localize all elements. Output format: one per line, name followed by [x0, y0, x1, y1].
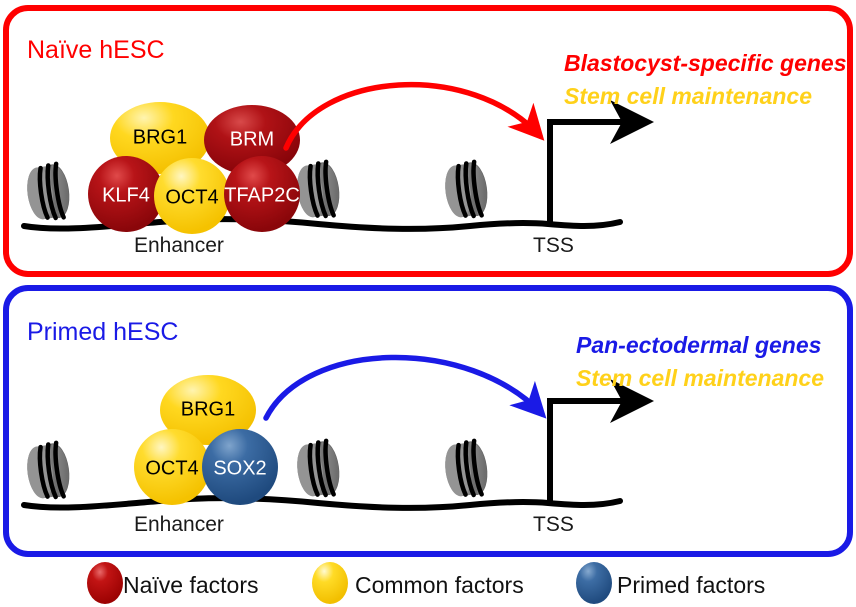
legend-label-naive-factors: Naïve factors [123, 572, 259, 599]
primed-tss-caption: TSS [533, 513, 574, 537]
primed-gene-label-stemcell: Stem cell maintenance [576, 365, 824, 392]
factor-oct4 [154, 158, 230, 234]
figure-diagram: Naïve hESC Primed hESC Blastocyst-specif… [0, 0, 856, 607]
factor-oct4-primed [134, 429, 210, 505]
legend-swatch-primed [576, 562, 612, 604]
legend-swatch-naive [87, 562, 123, 604]
naive-enhancer-caption: Enhancer [134, 234, 224, 258]
legend-label-primed-factors: Primed factors [617, 572, 765, 599]
panel-title-primed: Primed hESC [27, 318, 178, 347]
panel-title-naive: Naïve hESC [27, 36, 165, 65]
primed-gene-label-panectodermal: Pan-ectodermal genes [576, 332, 821, 359]
naive-gene-label-blastocyst: Blastocyst-specific genes [564, 50, 847, 77]
factor-sox2 [202, 429, 278, 505]
legend-swatch-common [312, 562, 348, 604]
naive-factor-complex [88, 102, 300, 234]
factor-tfap2c [224, 156, 300, 232]
factor-klf4 [88, 156, 164, 232]
primed-enhancer-caption: Enhancer [134, 513, 224, 537]
legend-label-common-factors: Common factors [355, 572, 524, 599]
naive-gene-label-stemcell: Stem cell maintenance [564, 83, 812, 110]
naive-tss-caption: TSS [533, 234, 574, 258]
